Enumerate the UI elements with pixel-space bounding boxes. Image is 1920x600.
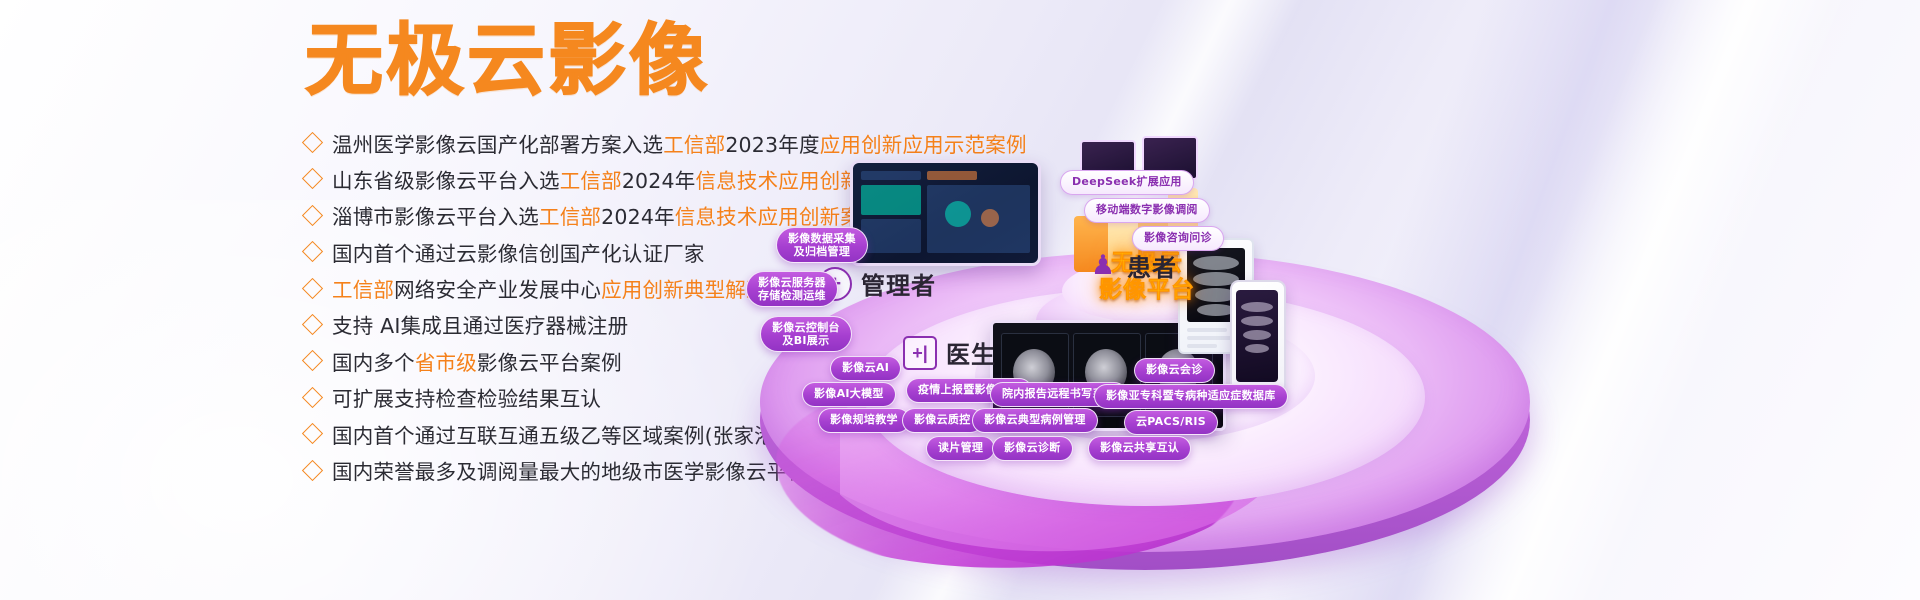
highlight-plain: 可扩展支持检查检验结果互认: [332, 387, 601, 411]
pill-p2[interactable]: 影像云服务器存储检测运维: [746, 271, 838, 307]
phone-screen: [1236, 290, 1278, 382]
pill-p19[interactable]: 影像咨询问诊: [1132, 226, 1224, 251]
highlight-plain: 国内首个通过云影像信创国产化认证厂家: [332, 242, 705, 266]
pill-line: 存储检测运维: [758, 289, 826, 302]
diamond-bullet-icon: [302, 241, 323, 262]
pill-line: 影像咨询问诊: [1144, 232, 1212, 245]
pill-line: 影像亚专科暨专病种适应症数据库: [1106, 390, 1276, 403]
pill-p12[interactable]: 影像云诊断: [992, 436, 1073, 461]
highlight-plain: 山东省级影像云平台入选: [332, 169, 560, 193]
highlight-plain: 网络安全产业发展中心: [394, 278, 601, 302]
highlight-plain: 影像云平台案例: [477, 351, 622, 375]
pill-line: 影像云控制台: [772, 321, 840, 334]
pill-p18[interactable]: 移动端数字影像调阅: [1084, 198, 1210, 223]
pill-line: 影像AI大模型: [814, 388, 884, 401]
role-patient[interactable]: ♟ 患者: [1088, 248, 1177, 283]
pill-p11[interactable]: 影像云典型病例管理: [972, 408, 1098, 433]
pill-p4[interactable]: 影像云AI: [830, 356, 901, 381]
highlight-text: 支持 AI集成且通过医疗器械注册: [332, 309, 628, 339]
highlight-plain: 国内多个: [332, 351, 415, 375]
highlight-emphasis: 省市级: [415, 351, 477, 375]
pill-line: 读片管理: [938, 442, 983, 455]
pill-p3[interactable]: 影像云控制台及BI展示: [760, 316, 852, 352]
highlight-emphasis: 工信部: [560, 169, 622, 193]
pill-p16[interactable]: 影像云共享互认: [1088, 436, 1191, 461]
highlight-plain: 2024年: [601, 205, 675, 229]
diamond-bullet-icon: [302, 277, 323, 298]
role-label: 医生: [946, 335, 996, 370]
pill-p1[interactable]: 影像数据采集及归档管理: [776, 227, 868, 263]
diamond-bullet-icon: [302, 459, 323, 480]
pill-line: 影像规培教学: [830, 414, 898, 427]
platform-architecture-diagram: 无极云 影像平台 + 管理者 +| 医生 ♟ 患者 影像数据采集及归档管理 影像…: [690, 120, 1920, 600]
pill-p14[interactable]: 影像亚专科暨专病种适应症数据库: [1094, 384, 1288, 409]
pill-line: 及归档管理: [788, 245, 856, 258]
pill-line: 及BI展示: [772, 334, 840, 347]
pill-line: 影像云质控: [914, 414, 971, 427]
role-label: 管理者: [861, 266, 936, 301]
highlight-text: 可扩展支持检查检验结果互认: [332, 382, 601, 412]
pill-p13[interactable]: 影像云会诊: [1134, 358, 1215, 383]
pill-line: 影像云典型病例管理: [984, 414, 1086, 427]
pill-line: 影像云服务器: [758, 276, 826, 289]
diamond-bullet-icon: [302, 314, 323, 335]
diamond-bullet-icon: [302, 168, 323, 189]
pill-line: 影像云AI: [842, 362, 889, 375]
pill-line: 移动端数字影像调阅: [1096, 204, 1198, 217]
person-icon: ♟: [1088, 251, 1118, 281]
pill-p6[interactable]: 影像规培教学: [818, 408, 910, 433]
diamond-bullet-icon: [302, 205, 323, 226]
highlight-plain: 淄博市影像云平台入选: [332, 205, 539, 229]
highlight-plain: 2024年: [622, 169, 696, 193]
dashboard-screen-mock: [850, 160, 1041, 266]
highlight-text: 国内多个省市级影像云平台案例: [332, 346, 622, 376]
pill-line: 云PACS/RIS: [1136, 416, 1206, 429]
pill-p8[interactable]: 影像云质控: [902, 408, 983, 433]
diamond-bullet-icon: [302, 350, 323, 371]
pill-p9[interactable]: 读片管理: [926, 436, 995, 461]
highlight-emphasis: 工信部: [539, 205, 601, 229]
highlight-emphasis: 工信部: [332, 278, 394, 302]
role-doctor[interactable]: +| 医生: [903, 335, 996, 370]
pill-line: 影像云诊断: [1004, 442, 1061, 455]
highlight-plain: 支持 AI集成且通过医疗器械注册: [332, 314, 628, 338]
pill-p5[interactable]: 影像AI大模型: [802, 382, 896, 407]
pill-p17[interactable]: DeepSeek扩展应用: [1060, 170, 1194, 195]
pill-p15[interactable]: 云PACS/RIS: [1124, 410, 1218, 435]
pill-line: 影像云会诊: [1146, 364, 1203, 377]
diamond-bullet-icon: [302, 132, 323, 153]
pill-line: DeepSeek扩展应用: [1072, 176, 1182, 189]
pill-line: 影像云共享互认: [1100, 442, 1179, 455]
doctor-badge-icon: +|: [903, 336, 937, 370]
pill-line: 影像数据采集: [788, 232, 856, 245]
highlight-plain: 温州医学影像云国产化部署方案入选: [332, 133, 663, 157]
banner-root: 无极云影像 温州医学影像云国产化部署方案入选工信部2023年度应用创新应用示范案…: [0, 0, 1920, 600]
role-label: 患者: [1127, 248, 1177, 283]
page-title: 无极云影像: [305, 22, 710, 100]
diamond-bullet-icon: [302, 387, 323, 408]
diamond-bullet-icon: [302, 423, 323, 444]
highlight-text: 国内首个通过云影像信创国产化认证厂家: [332, 237, 705, 267]
